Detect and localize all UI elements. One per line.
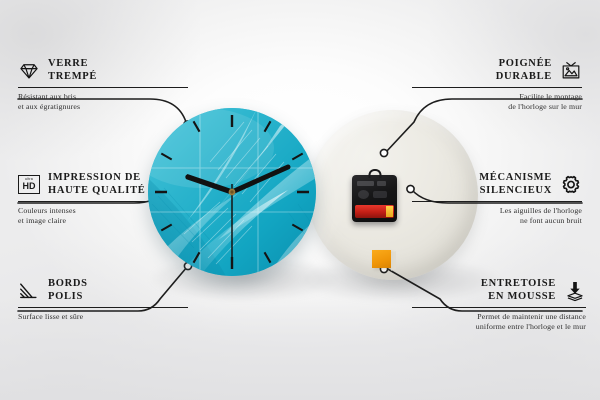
feature-poignee-durable: POIGNÉE DURABLE Facilite le montage de l… (412, 58, 582, 112)
feature-mecanisme-silencieux: MÉCANISME SILENCIEUX Les aiguilles de l'… (412, 172, 582, 226)
feature-bords-polis: BORDS POLIS Surface lisse et sûre (18, 278, 188, 322)
feature-header: POIGNÉE DURABLE (412, 58, 582, 83)
polished-edge-icon (18, 280, 40, 302)
front-clock-face (148, 108, 316, 276)
leader-dot-poignee (380, 149, 387, 156)
diamond-icon (18, 60, 40, 82)
hanger-icon (368, 169, 381, 178)
picture-frame-icon (560, 60, 582, 82)
movement-emboss (357, 181, 374, 186)
divider (412, 201, 582, 202)
feature-description: Les aiguilles de l'horloge ne font aucun… (412, 206, 582, 225)
gear-icon (560, 174, 582, 196)
quartz-movement (352, 175, 397, 222)
foam-spacer-icon (564, 280, 586, 302)
clock-hands (148, 108, 316, 276)
divider (412, 307, 586, 308)
foam-spacer (372, 250, 391, 268)
movement-emboss (377, 181, 386, 186)
feature-header: MÉCANISME SILENCIEUX (412, 172, 582, 197)
divider (412, 87, 582, 88)
feature-description: Surface lisse et sûre (18, 312, 188, 322)
feature-header: BORDS POLIS (18, 278, 188, 303)
feature-title: MÉCANISME SILENCIEUX (479, 172, 552, 197)
feature-header: ENTRETOISE EN MOUSSE (412, 278, 586, 303)
feature-title: IMPRESSION DE HAUTE QUALITÉ (48, 172, 146, 197)
divider (18, 87, 188, 88)
feature-title: VERRE TREMPÉ (48, 58, 97, 83)
feature-title: POIGNÉE DURABLE (496, 58, 552, 83)
ultra-hd-badge-icon: ultra HD (18, 175, 40, 194)
feature-header: VERRE TREMPÉ (18, 58, 188, 83)
feature-description: Permet de maintenir une distance uniform… (412, 312, 586, 331)
movement-emboss (373, 191, 387, 198)
feature-title: BORDS POLIS (48, 278, 88, 303)
divider (18, 307, 188, 308)
battery (355, 205, 394, 218)
infographic-canvas: VERRE TREMPÉ Résistant aux bris et aux é… (0, 0, 600, 400)
feature-description: Facilite le montage de l'horloge sur le … (412, 92, 582, 111)
movement-emboss (358, 190, 369, 199)
feature-entretoise-en-mousse: ENTRETOISE EN MOUSSE Permet de maintenir… (412, 278, 586, 332)
feature-verre-trempe: VERRE TREMPÉ Résistant aux bris et aux é… (18, 58, 188, 112)
feature-title: ENTRETOISE EN MOUSSE (481, 278, 556, 303)
